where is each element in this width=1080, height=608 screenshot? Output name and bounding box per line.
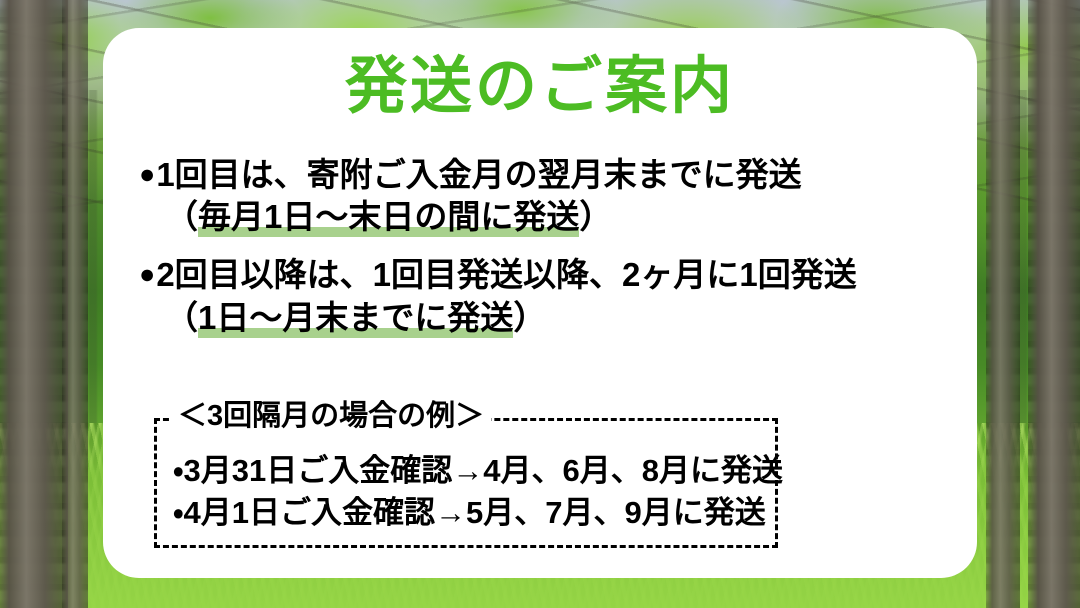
paren-close: ） bbox=[579, 198, 612, 235]
bullet-item-first-shipment: ●1回目は、寄附ご入金月の翌月末までに発送 （毎月1日〜末日の間に発送） bbox=[139, 154, 947, 238]
bullet-line-primary: ●1回目は、寄附ご入金月の翌月末までに発送 bbox=[139, 154, 947, 196]
bullet-dot-icon: ● bbox=[139, 159, 155, 189]
paren-open: （ bbox=[165, 198, 198, 235]
foreground-tree-trunk-right-thin bbox=[986, 0, 1020, 608]
slide-stage: 発送のご案内 ●1回目は、寄附ご入金月の翌月末までに発送 （毎月1日〜末日の間に… bbox=[0, 0, 1080, 608]
bullet-line-sub: （毎月1日〜末日の間に発送） bbox=[139, 196, 947, 238]
paren-close: ） bbox=[513, 299, 546, 336]
example-box-lines: ・3月31日ご入金確認→4月、6月、8月に発送 ・4月1日ご入金確認→5月、7月… bbox=[173, 450, 767, 534]
example-line: ・4月1日ご入金確認→5月、7月、9月に発送 bbox=[173, 492, 767, 534]
bullet-text: 1回目は、寄附ご入金月の翌月末までに発送 bbox=[156, 156, 801, 193]
bullet-line-sub: （1日〜月末までに発送） bbox=[139, 297, 947, 339]
highlighted-text: 毎月1日〜末日の間に発送 bbox=[198, 198, 579, 237]
info-card: 発送のご案内 ●1回目は、寄附ご入金月の翌月末までに発送 （毎月1日〜末日の間に… bbox=[103, 28, 977, 578]
foreground-tree-trunk-left-thin bbox=[62, 0, 88, 608]
bullet-list: ●1回目は、寄附ご入金月の翌月末までに発送 （毎月1日〜末日の間に発送） ●2回… bbox=[139, 154, 947, 343]
page-title: 発送のご案内 bbox=[103, 54, 977, 119]
bullet-text: 2回目以降は、1回目発送以降、2ヶ月に1回発送 bbox=[156, 256, 856, 293]
bullet-line-primary: ●2回目以降は、1回目発送以降、2ヶ月に1回発送 bbox=[139, 254, 947, 296]
highlighted-text: 1日〜月末までに発送 bbox=[198, 299, 513, 338]
bullet-dot-icon: ● bbox=[139, 259, 155, 289]
example-line: ・3月31日ご入金確認→4月、6月、8月に発送 bbox=[173, 450, 767, 492]
example-box-legend: ＜3回隔月の場合の例＞ bbox=[171, 399, 491, 434]
foreground-tree-trunk-left bbox=[0, 0, 68, 608]
paren-open: （ bbox=[165, 299, 198, 336]
example-dashed-box: ＜3回隔月の場合の例＞ ・3月31日ご入金確認→4月、6月、8月に発送 ・4月1… bbox=[154, 418, 778, 548]
foreground-tree-trunk-right bbox=[1028, 0, 1080, 608]
bullet-item-subsequent-shipments: ●2回目以降は、1回目発送以降、2ヶ月に1回発送 （1日〜月末までに発送） bbox=[139, 254, 947, 338]
